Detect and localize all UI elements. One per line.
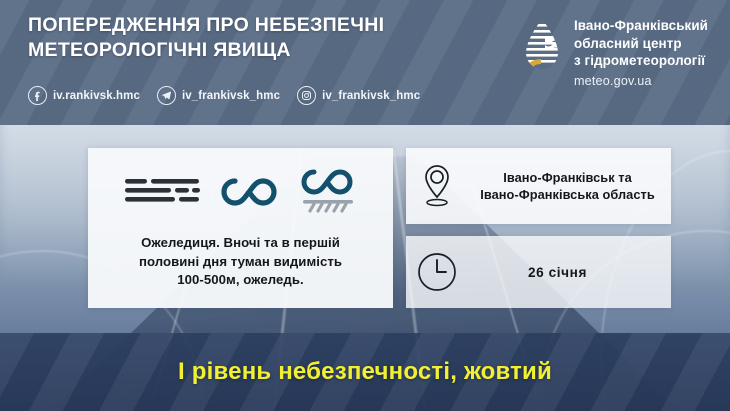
organization-name: Івано-Франківський обласний центр з гідр… (574, 17, 708, 90)
date-card: 26 січня (406, 236, 671, 308)
social-link-telegram[interactable]: iv_frankivsk_hmc (157, 86, 280, 105)
warning-line3: 100-500м, ожеледь. (177, 272, 303, 287)
logo-line3: з гідрометеорології (574, 53, 705, 68)
facebook-icon (28, 86, 47, 105)
warning-line1: Ожеледиця. Вночі та в першій (141, 235, 340, 250)
header-band: ПОПЕРЕДЖЕННЯ ПРО НЕБЕЗПЕЧНІ МЕТЕОРОЛОГІЧ… (0, 0, 730, 125)
page-title-line2: МЕТЕОРОЛОГІЧНІ ЯВИЩА (28, 38, 458, 63)
location-name: Івано-Франківськ та Івано-Франківська об… (474, 169, 671, 203)
freezing-fog-ground-ice-icon (297, 166, 359, 220)
weather-warning-card: Ожеледиця. Вночі та в першій половині дн… (88, 148, 393, 308)
logo-line1: Івано-Франківський (574, 18, 708, 33)
warning-date: 26 січня (474, 265, 671, 280)
location-line1: Івано-Франківськ та (503, 170, 632, 185)
social-links: iv.rankivsk.hmc iv_frankivsk_hmc (28, 86, 420, 105)
warning-description: Ожеледиця. Вночі та в першій половині дн… (88, 234, 393, 290)
social-handle-facebook: iv.rankivsk.hmc (53, 90, 140, 102)
weather-warning-poster: ПОПЕРЕДЖЕННЯ ПРО НЕБЕЗПЕЧНІ МЕТЕОРОЛОГІЧ… (0, 0, 730, 411)
location-card: Івано-Франківськ та Івано-Франківська об… (406, 148, 671, 224)
page-title: ПОПЕРЕДЖЕННЯ ПРО НЕБЕЗПЕЧНІ МЕТЕОРОЛОГІЧ… (28, 13, 458, 63)
fog-lines-icon (123, 173, 201, 213)
clock-icon (406, 250, 468, 294)
social-link-facebook[interactable]: iv.rankivsk.hmc (28, 86, 140, 105)
danger-level-text: I рівень небезпечності, жовтий (178, 358, 552, 386)
mist-swirl-icon (218, 173, 280, 213)
organization-logo: Івано-Франківський обласний центр з гідр… (521, 17, 708, 90)
warning-line2: половині дня туман видимість (139, 254, 342, 269)
page-title-line1: ПОПЕРЕДЖЕННЯ ПРО НЕБЕЗПЕЧНІ (28, 14, 384, 36)
logo-website[interactable]: meteo.gov.ua (574, 73, 708, 91)
social-link-instagram[interactable]: iv_frankivsk_hmc (297, 86, 420, 105)
logo-line2: обласний центр (574, 36, 682, 51)
telegram-icon (157, 86, 176, 105)
weather-icons-row (88, 148, 393, 234)
social-handle-instagram: iv_frankivsk_hmc (322, 90, 420, 102)
social-handle-telegram: iv_frankivsk_hmc (182, 90, 280, 102)
instagram-icon (297, 86, 316, 105)
location-line2: Івано-Франківська область (480, 187, 654, 202)
map-pin-icon (406, 163, 468, 209)
water-drop-logo-icon (521, 17, 563, 79)
danger-level-band: I рівень небезпечності, жовтий (0, 333, 730, 411)
